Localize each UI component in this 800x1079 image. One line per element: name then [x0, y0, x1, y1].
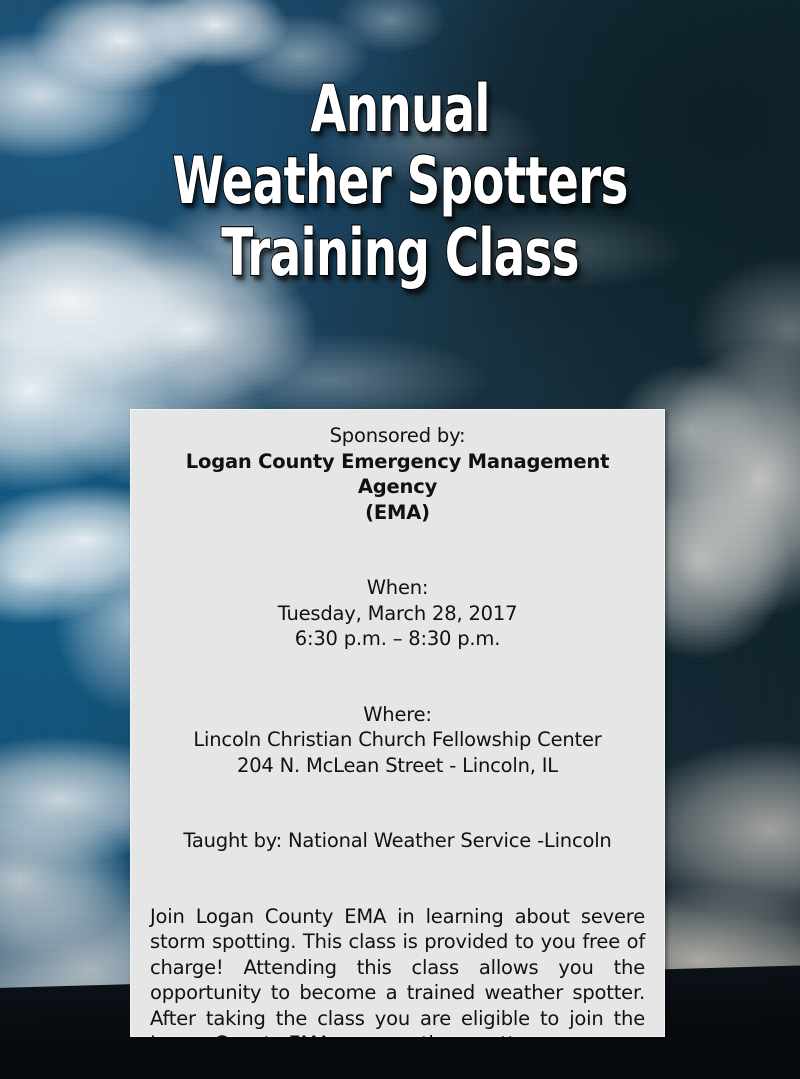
title-line-3: Training Class: [112, 218, 688, 290]
sponsor-abbreviation: (EMA): [148, 500, 647, 526]
body-paragraph: Join Logan County EMA in learning about …: [148, 904, 647, 1038]
poster-title: Annual Weather Spotters Training Class: [0, 74, 800, 290]
spacer-4: [148, 677, 647, 702]
spacer-1: [148, 525, 647, 550]
spacer-8: [148, 879, 647, 904]
where-label: Where:: [148, 702, 647, 728]
weather-spotters-flyer: Annual Weather Spotters Training Class S…: [0, 0, 800, 1079]
spacer-5: [148, 778, 647, 803]
title-line-1: Annual: [112, 74, 688, 146]
when-label: When:: [148, 575, 647, 601]
where-address: 204 N. McLean Street - Lincoln, IL: [148, 753, 647, 779]
spacer-6: [148, 803, 647, 828]
where-venue: Lincoln Christian Church Fellowship Cent…: [148, 727, 647, 753]
taught-by: Taught by: National Weather Service -Lin…: [148, 828, 647, 854]
when-time: 6:30 p.m. – 8:30 p.m.: [148, 626, 647, 652]
spacer-3: [148, 652, 647, 677]
information-panel: Sponsored by: Logan County Emergency Man…: [130, 409, 665, 1037]
title-line-2: Weather Spotters: [112, 146, 688, 218]
spacer-2: [148, 550, 647, 575]
sponsor-name: Logan County Emergency Management Agency: [148, 449, 647, 500]
spacer-7: [148, 854, 647, 879]
sponsored-by-label: Sponsored by:: [148, 423, 647, 449]
when-date: Tuesday, March 28, 2017: [148, 601, 647, 627]
